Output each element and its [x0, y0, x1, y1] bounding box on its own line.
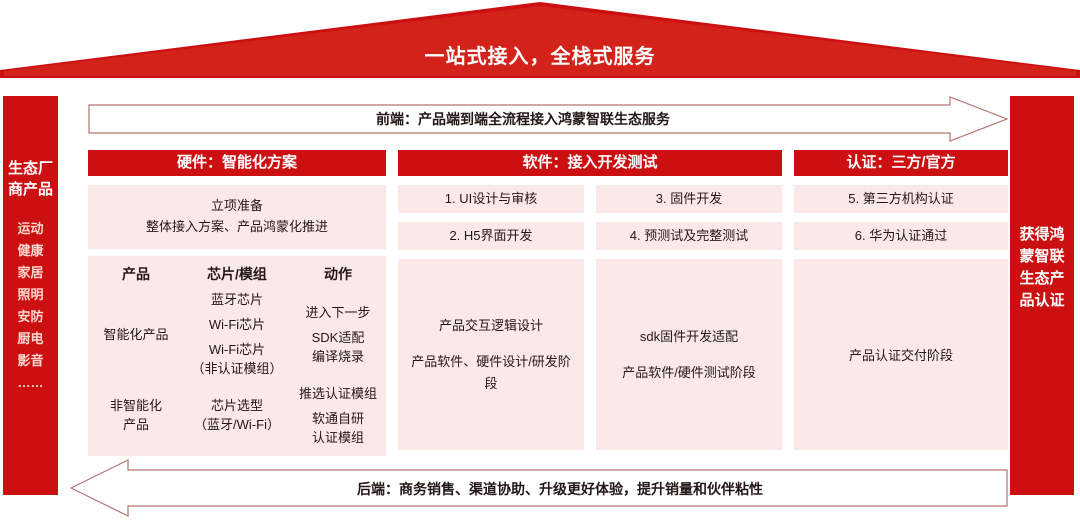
step-pretest-fulltest[interactable]: 4. 预测试及完整测试: [596, 222, 782, 250]
sidebar-item-security[interactable]: 安防: [3, 306, 58, 328]
column-software-header: 软件：接入开发测试: [398, 150, 782, 176]
product-nonsmart-line2: 产品: [123, 415, 149, 434]
table-header-row: 产品 芯片/模组 动作: [88, 262, 386, 286]
software-right-line1: sdk固件开发适配: [640, 326, 738, 348]
action-inhouse-line2: 认证模组: [312, 428, 364, 447]
chip-wifi-noncert-line2: （非认证模组）: [191, 359, 282, 378]
left-sidebar-title: 生态厂商产品: [3, 158, 58, 200]
step-firmware-development[interactable]: 3. 固件开发: [596, 185, 782, 213]
backend-arrow-band: 后端：商务销售、渠道协助、升级更好体验，提升销量和伙伴粘性: [70, 459, 1008, 517]
frontend-arrow-band: 前端：产品端到端全流程接入鸿蒙智联生态服务: [88, 96, 1008, 142]
software-left-line2: 产品软件、硬件设计/研发阶段: [408, 351, 574, 395]
sidebar-item-health[interactable]: 健康: [3, 240, 58, 262]
cell-product-smart: 智能化产品: [88, 286, 184, 382]
backend-label: 后端：商务销售、渠道协助、升级更好体验，提升销量和伙伴粘性: [120, 479, 1000, 499]
certification-body-text: 产品认证交付阶段: [849, 345, 953, 364]
step-third-party-cert[interactable]: 5. 第三方机构认证: [794, 185, 1008, 213]
stage-columns: 硬件：智能化方案 立项准备 整体接入方案、产品鸿蒙化推进 产品 芯片/模组 动作…: [88, 150, 1008, 450]
sidebar-item-kitchen[interactable]: 厨电: [3, 328, 58, 350]
product-nonsmart-line1: 非智能化: [110, 396, 162, 415]
column-hardware: 硬件：智能化方案 立项准备 整体接入方案、产品鸿蒙化推进 产品 芯片/模组 动作…: [88, 150, 386, 456]
column-software: 软件：接入开发测试 1. UI设计与审核 2. H5界面开发 产品交互逻辑设计 …: [398, 150, 782, 446]
right-sidebar: 获得鸿蒙智联生态产品认证: [1010, 96, 1074, 495]
chip-wifi-noncert-line1: Wi-Fi芯片: [191, 340, 282, 359]
action-recommend-module: 推选认证模组: [299, 384, 377, 403]
sidebar-item-home[interactable]: 家居: [3, 262, 58, 284]
step-ui-design[interactable]: 1. UI设计与审核: [398, 185, 584, 213]
th-action: 动作: [290, 262, 386, 286]
chip-selection-line1: 芯片选型: [211, 396, 263, 415]
step-h5-development[interactable]: 2. H5界面开发: [398, 222, 584, 250]
th-product: 产品: [88, 262, 184, 286]
table-row: 智能化产品 蓝牙芯片 Wi-Fi芯片 Wi-Fi芯片 （非认证模组） 进入下一步…: [88, 286, 386, 382]
cell-action-nonsmart: 推选认证模组 软通自研 认证模组: [290, 382, 386, 448]
software-right-line2: 产品软件/硬件测试阶段: [622, 362, 756, 384]
right-sidebar-title: 获得鸿蒙智联生态产品认证: [1010, 224, 1074, 312]
column-hardware-header: 硬件：智能化方案: [88, 150, 386, 176]
top-banner: 一站式接入，全栈式服务: [0, 0, 1080, 78]
banner-title: 一站式接入，全栈式服务: [0, 40, 1080, 69]
cell-action-smart: 进入下一步 SDK适配 编译烧录: [290, 286, 386, 382]
software-subcolumn-left: 1. UI设计与审核 2. H5界面开发 产品交互逻辑设计 产品软件、硬件设计/…: [398, 176, 584, 450]
table-row: 非智能化 产品 芯片选型 （蓝牙/Wi-Fi） 推选认证模组 软通自研 认证模组: [88, 382, 386, 448]
chip-wifi-noncert: Wi-Fi芯片 （非认证模组）: [191, 340, 282, 378]
action-next-step: 进入下一步: [305, 303, 370, 322]
hardware-intro-line2: 整体接入方案、产品鸿蒙化推进: [94, 216, 380, 237]
action-sdk-line1: SDK适配: [312, 328, 365, 347]
sidebar-item-av[interactable]: 影音: [3, 350, 58, 372]
left-sidebar: 生态厂商产品 运动 健康 家居 照明 安防 厨电 影音 ……: [3, 96, 58, 495]
software-left-body: 产品交互逻辑设计 产品软件、硬件设计/研发阶段: [398, 259, 584, 450]
column-certification: 认证：三方/官方 5. 第三方机构认证 6. 华为认证通过 产品认证交付阶段: [794, 150, 1008, 450]
step-huawei-cert-passed[interactable]: 6. 华为认证通过: [794, 222, 1008, 250]
th-chip: 芯片/模组: [184, 262, 290, 286]
certification-body: 产品认证交付阶段: [794, 259, 1008, 450]
software-subcolumn-right: 3. 固件开发 4. 预测试及完整测试 sdk固件开发适配 产品软件/硬件测试阶…: [596, 176, 782, 450]
action-sdk-line2: 编译烧录: [312, 347, 365, 366]
hardware-intro-block: 立项准备 整体接入方案、产品鸿蒙化推进: [88, 185, 386, 249]
cell-chip-smart: 蓝牙芯片 Wi-Fi芯片 Wi-Fi芯片 （非认证模组）: [184, 286, 290, 382]
software-left-line1: 产品交互逻辑设计: [439, 315, 543, 337]
cell-product-nonsmart: 非智能化 产品: [88, 382, 184, 448]
chip-wifi: Wi-Fi芯片: [209, 315, 265, 334]
sidebar-item-lighting[interactable]: 照明: [3, 284, 58, 306]
sidebar-item-more: ……: [3, 372, 58, 394]
action-sdk-adapt: SDK适配 编译烧录: [312, 328, 365, 366]
frontend-label: 前端：产品端到端全流程接入鸿蒙智联生态服务: [88, 109, 958, 129]
hardware-table: 产品 芯片/模组 动作 智能化产品 蓝牙芯片 Wi-Fi芯片 Wi-Fi芯片 （…: [88, 256, 386, 456]
left-sidebar-list: 运动 健康 家居 照明 安防 厨电 影音 ……: [3, 218, 58, 394]
action-inhouse-line1: 软通自研: [312, 409, 364, 428]
column-certification-header: 认证：三方/官方: [794, 150, 1008, 176]
sidebar-item-sports[interactable]: 运动: [3, 218, 58, 240]
action-inhouse-module: 软通自研 认证模组: [312, 409, 364, 447]
hardware-intro-line1: 立项准备: [94, 195, 380, 216]
chip-bluetooth: 蓝牙芯片: [211, 290, 263, 309]
software-right-body: sdk固件开发适配 产品软件/硬件测试阶段: [596, 259, 782, 450]
chip-selection-line2: （蓝牙/Wi-Fi）: [194, 415, 280, 434]
cell-chip-nonsmart: 芯片选型 （蓝牙/Wi-Fi）: [184, 382, 290, 448]
